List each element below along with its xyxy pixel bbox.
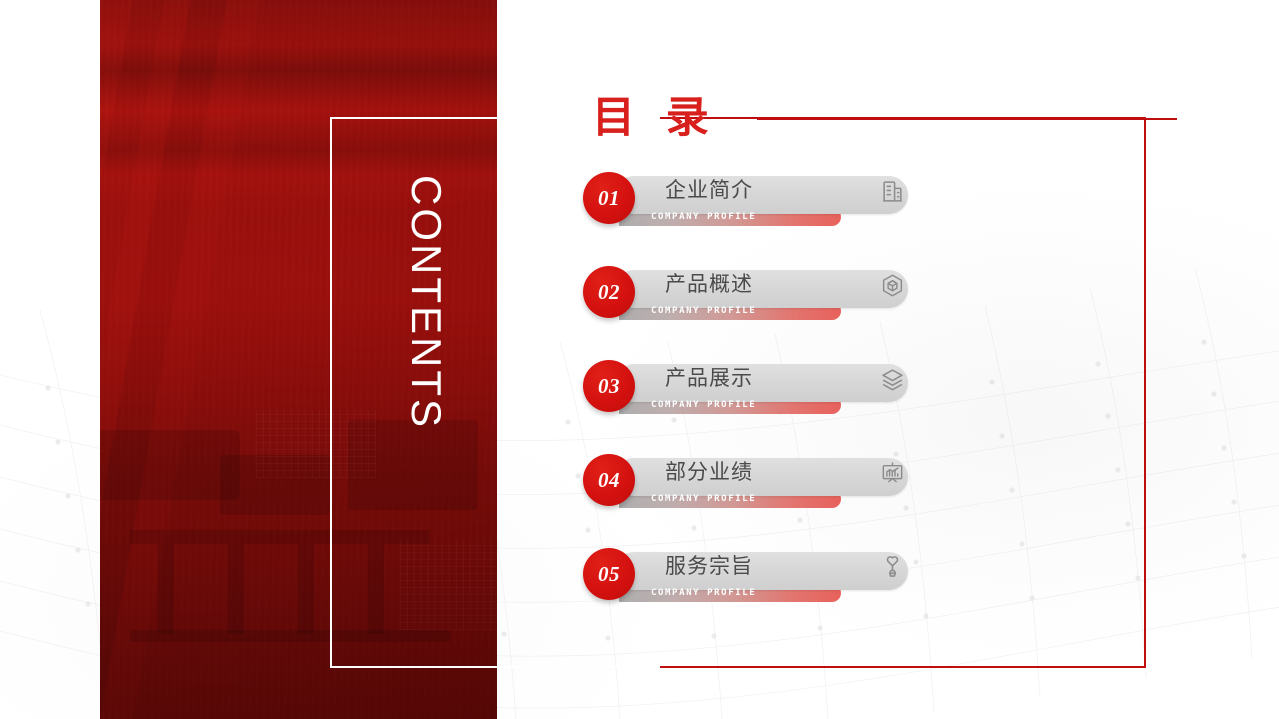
layers-icon (880, 367, 905, 392)
presentation-chart-icon (880, 461, 905, 486)
toc-item-subtitle: COMPANY PROFILE (651, 585, 756, 601)
toc-number-badge: 03 (583, 360, 635, 412)
toc-item-01[interactable]: 企业简介 COMPANY PROFILE 01 (583, 172, 923, 234)
toc-number-badge: 05 (583, 548, 635, 600)
toc-item-03[interactable]: 产品展示 COMPANY PROFILE 03 (583, 360, 923, 422)
toc-item-subtitle: COMPANY PROFILE (651, 397, 756, 413)
toc-item-label: 企业简介 (665, 178, 753, 204)
toc-item-subtitle: COMPANY PROFILE (651, 209, 756, 225)
toc-number-text: 02 (598, 266, 620, 318)
toc-number-text: 01 (598, 172, 620, 224)
toc-item-subtitle: COMPANY PROFILE (651, 491, 756, 507)
toc-item-05[interactable]: 服务宗旨 COMPANY PROFILE 05 (583, 548, 923, 610)
presentation-slide: CONTENTS 目 录 企业简介 COMPANY PROFILE 01 (0, 0, 1279, 719)
toc-item-label: 部分业绩 (665, 460, 753, 486)
page-title-text: 目 录 (592, 92, 719, 146)
page-title: 目 录 (592, 92, 1177, 146)
toc-item-04[interactable]: 部分业绩 COMPANY PROFILE 04 (583, 454, 923, 516)
toc-number-badge: 04 (583, 454, 635, 506)
building-icon (880, 179, 905, 204)
toc-number-badge: 01 (583, 172, 635, 224)
heart-trophy-icon (880, 555, 905, 580)
toc-item-subtitle: COMPANY PROFILE (651, 303, 756, 319)
toc-number-text: 03 (598, 360, 620, 412)
toc-item-02[interactable]: 产品概述 COMPANY PROFILE 02 (583, 266, 923, 328)
toc-item-label: 服务宗旨 (665, 554, 753, 580)
toc-list: 企业简介 COMPANY PROFILE 01 产品概述 (583, 172, 923, 610)
toc-number-badge: 02 (583, 266, 635, 318)
hexagon-cube-icon (880, 273, 905, 298)
contents-vertical-label: CONTENTS (396, 175, 456, 395)
toc-item-label: 产品概述 (665, 272, 753, 298)
title-divider-line (757, 118, 1177, 120)
toc-number-text: 04 (598, 454, 620, 506)
toc-number-text: 05 (598, 548, 620, 600)
toc-item-label: 产品展示 (665, 366, 753, 392)
